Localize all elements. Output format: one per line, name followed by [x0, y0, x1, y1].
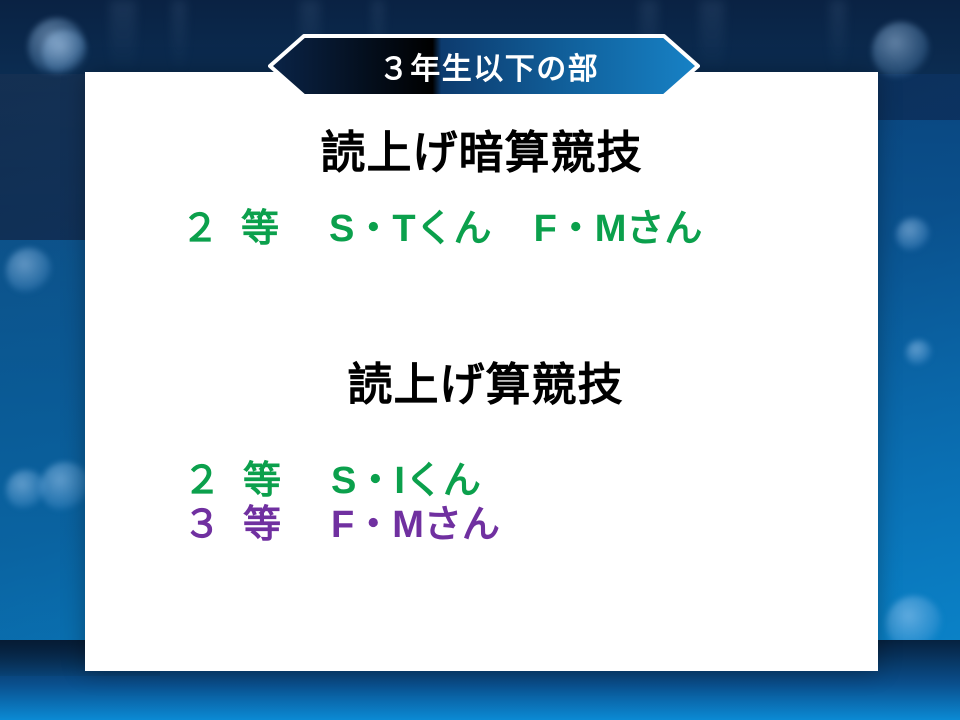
result-rank: ２	[183, 462, 243, 500]
slide-root: ３年生以下の部 読上げ暗算競技 ２等S・TくんF・Mさん 読上げ算競技 ２等S・…	[0, 0, 960, 720]
background-bokeh-circle	[42, 30, 88, 76]
result-name: S・Tくん	[329, 210, 492, 248]
background-bokeh-circle	[40, 462, 90, 512]
background-light-streak	[172, 0, 186, 74]
background-bokeh-circle	[896, 218, 930, 252]
background-light-streak	[110, 0, 136, 74]
result-row: ２等S・TくんF・Mさん	[181, 210, 702, 248]
result-row: ３等F・Mさん	[183, 506, 500, 544]
background-light-streak	[700, 0, 724, 74]
result-rank: ３	[183, 506, 243, 544]
background-bokeh-circle	[906, 340, 932, 366]
event-title-abacus-mental: 読上げ暗算競技	[85, 128, 878, 178]
result-rank: ２	[181, 210, 241, 248]
result-row: ２等S・Iくん	[183, 462, 481, 500]
result-name: F・Mさん	[331, 504, 500, 546]
result-unit: 等	[241, 210, 329, 248]
result-unit: 等	[243, 462, 331, 500]
event-title-abacus-reading: 読上げ算競技	[93, 360, 878, 410]
background-bokeh-circle	[6, 248, 52, 294]
result-name: F・Mさん	[534, 208, 703, 250]
results-content: 読上げ暗算競技 ２等S・TくんF・Mさん 読上げ算競技 ２等S・Iくん ３等F・…	[85, 72, 878, 671]
result-unit: 等	[243, 506, 331, 544]
banner-label: ３年生以下の部	[268, 34, 700, 98]
result-name: S・Iくん	[331, 460, 481, 502]
section-banner: ３年生以下の部	[268, 34, 700, 98]
background-bokeh-circle	[872, 22, 930, 80]
background-light-streak	[830, 0, 846, 74]
background-bokeh-circle	[6, 470, 46, 510]
